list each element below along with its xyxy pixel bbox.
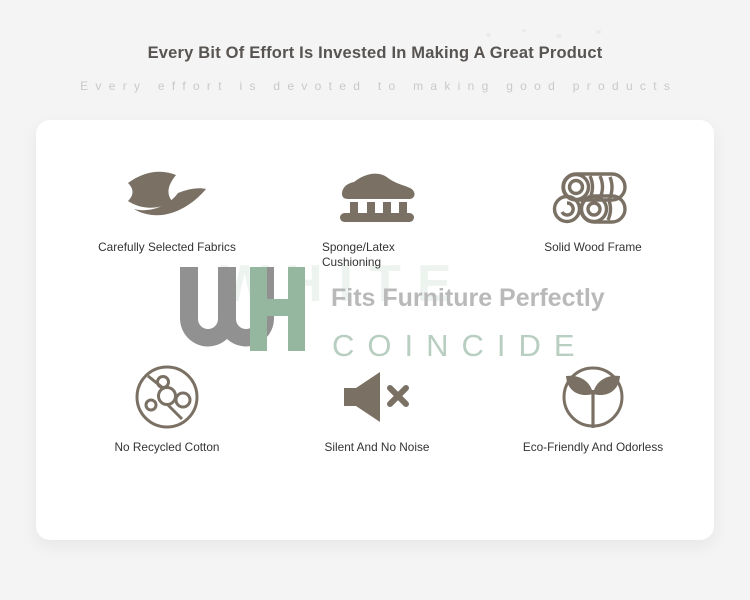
no-recycled-cotton-icon (54, 358, 280, 436)
eco-leaf-icon (480, 358, 706, 436)
feature-label: No Recycled Cotton (54, 440, 280, 455)
page-subtitle: Every effort is devoted to making good p… (0, 79, 750, 93)
feature-item-cushioning[interactable]: Sponge/Latex Cushioning (264, 158, 490, 269)
feature-item-fabrics[interactable]: Carefully Selected Fabrics (54, 158, 280, 255)
feature-label: Sponge/Latex Cushioning (322, 240, 432, 269)
fabric-icon (54, 158, 280, 236)
feature-item-no-recycled-cotton[interactable]: No Recycled Cotton (54, 358, 280, 455)
decorative-speck (556, 34, 562, 38)
wood-logs-icon (480, 158, 706, 236)
page-header: Every Bit Of Effort Is Invested In Makin… (0, 0, 750, 120)
feature-label: Solid Wood Frame (480, 240, 706, 255)
mute-speaker-icon (264, 358, 490, 436)
decorative-speck (486, 33, 491, 37)
features-card: WHITE Fits Furniture Perfectly COINCIDE … (36, 120, 714, 540)
decorative-speck (522, 29, 526, 32)
feature-label: Silent And No Noise (264, 440, 490, 455)
feature-label: Eco-Friendly And Odorless (480, 440, 706, 455)
feature-item-silent[interactable]: Silent And No Noise (264, 358, 490, 455)
feature-item-eco-friendly[interactable]: Eco-Friendly And Odorless (480, 358, 706, 455)
decorative-speck (596, 30, 601, 34)
feature-label: Carefully Selected Fabrics (54, 240, 280, 255)
feature-grid: Carefully Selected Fabrics Sponge/Latex … (36, 120, 714, 540)
cushion-spring-icon (264, 158, 490, 236)
feature-item-wood-frame[interactable]: Solid Wood Frame (480, 158, 706, 255)
page-title: Every Bit Of Effort Is Invested In Makin… (0, 44, 750, 63)
